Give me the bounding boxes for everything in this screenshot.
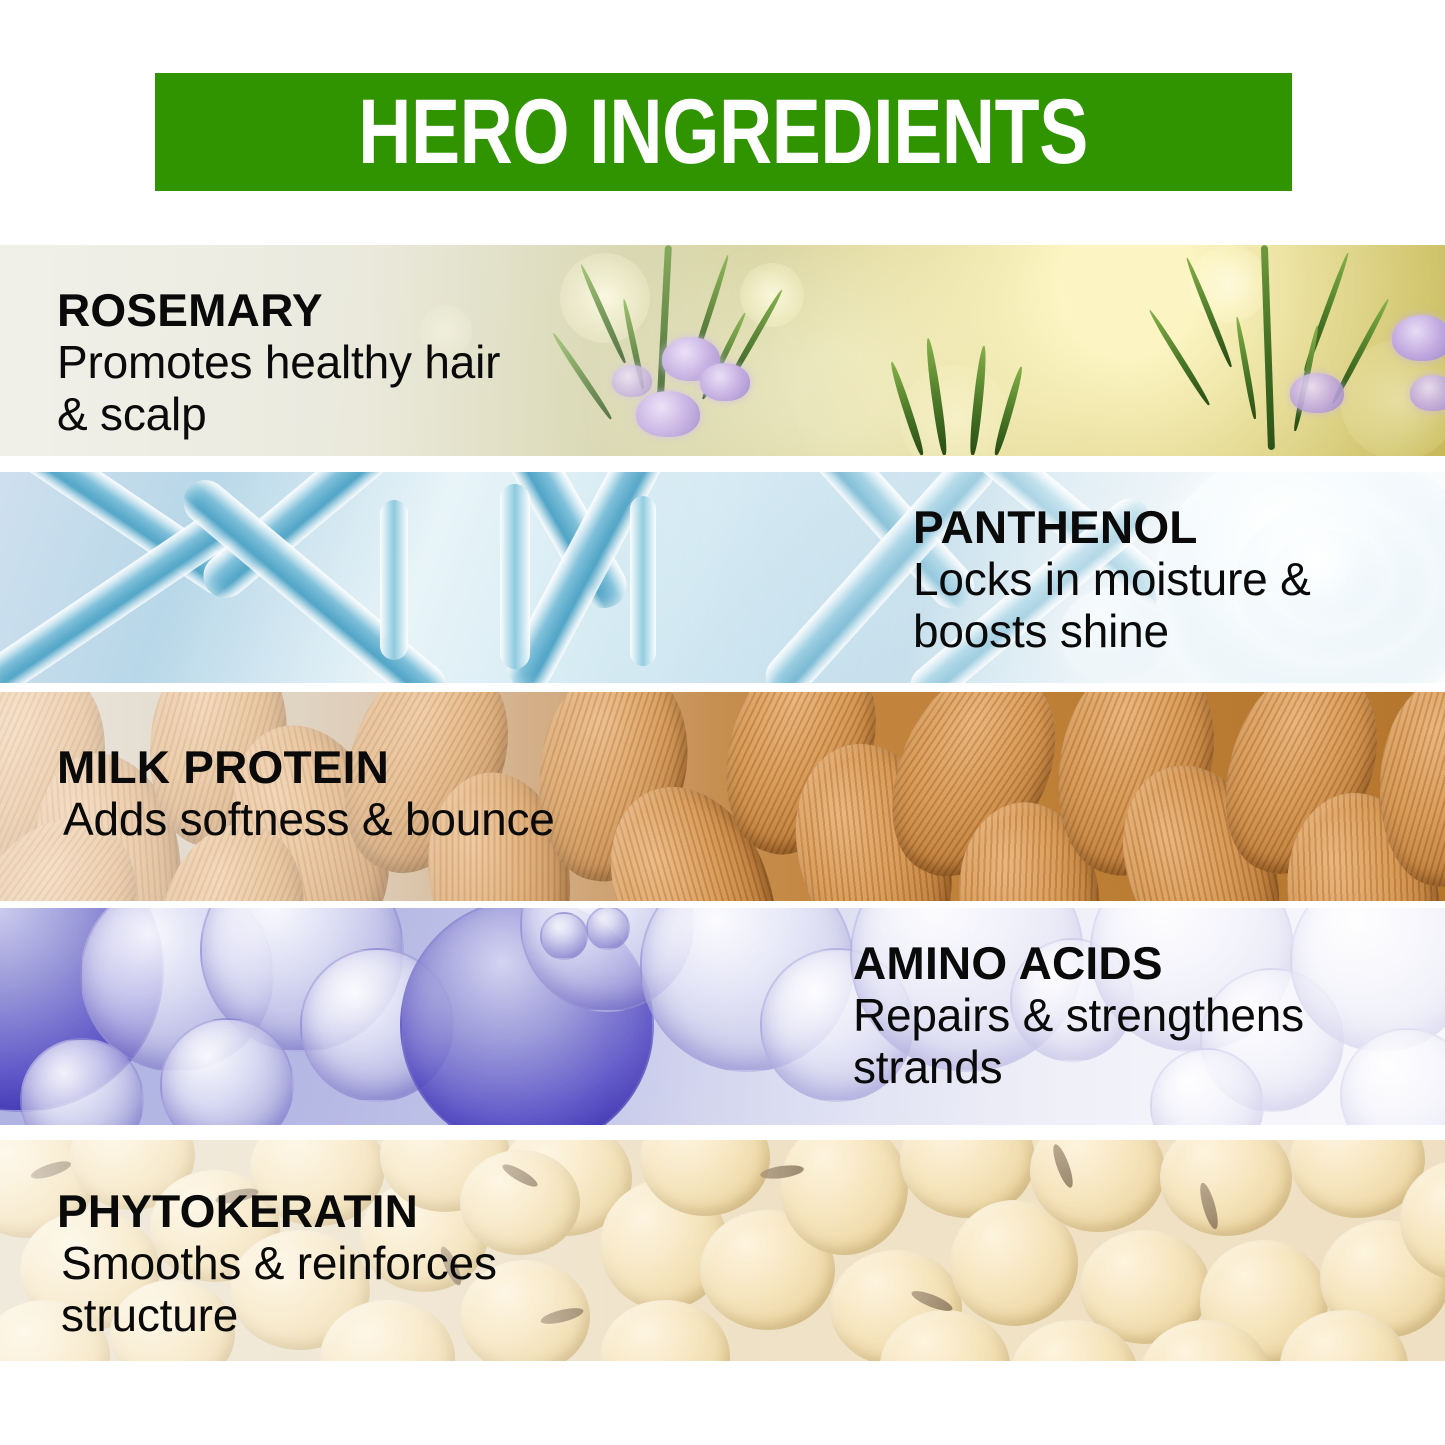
ingredient-name-amino-acids: AMINO ACIDS bbox=[853, 940, 1304, 986]
ingredient-benefit-milk-protein-line1: Adds softness & bounce bbox=[63, 794, 555, 846]
phytokeratin-text-block: PHYTOKERATIN Smooths & reinforces struct… bbox=[57, 1188, 497, 1341]
ingredient-benefit-phytokeratin-line1: Smooths & reinforces bbox=[61, 1238, 497, 1290]
rosemary-text-block: ROSEMARY Promotes healthy hair & scalp bbox=[57, 287, 500, 440]
ingredient-band-panthenol: PANTHENOL Locks in moisture & boosts shi… bbox=[0, 472, 1445, 683]
ingredient-name-panthenol: PANTHENOL bbox=[913, 504, 1311, 550]
milk-protein-text-block: MILK PROTEIN Adds softness & bounce bbox=[57, 744, 555, 846]
ingredient-benefit-panthenol-line1: Locks in moisture & bbox=[913, 554, 1311, 606]
ingredient-name-phytokeratin: PHYTOKERATIN bbox=[57, 1188, 497, 1234]
ingredient-benefit-amino-acids-line1: Repairs & strengthens bbox=[853, 990, 1304, 1042]
ingredient-band-rosemary: ROSEMARY Promotes healthy hair & scalp bbox=[0, 245, 1445, 456]
ingredient-benefit-panthenol-line2: boosts shine bbox=[913, 606, 1311, 658]
page-title: HERO INGREDIENTS bbox=[359, 86, 1089, 178]
ingredient-band-milk-protein: MILK PROTEIN Adds softness & bounce bbox=[0, 692, 1445, 901]
ingredient-benefit-rosemary-line1: Promotes healthy hair bbox=[57, 337, 500, 389]
ingredient-benefit-amino-acids-line2: strands bbox=[853, 1042, 1304, 1094]
ingredient-benefit-phytokeratin-line2: structure bbox=[61, 1290, 497, 1342]
ingredient-name-rosemary: ROSEMARY bbox=[57, 287, 500, 333]
hero-ingredients-banner: HERO INGREDIENTS bbox=[155, 73, 1292, 191]
panthenol-text-block: PANTHENOL Locks in moisture & boosts shi… bbox=[913, 504, 1311, 657]
ingredient-name-milk-protein: MILK PROTEIN bbox=[57, 744, 555, 790]
ingredient-band-amino-acids: AMINO ACIDS Repairs & strengthens strand… bbox=[0, 908, 1445, 1125]
ingredient-benefit-rosemary-line2: & scalp bbox=[57, 389, 500, 441]
amino-acids-text-block: AMINO ACIDS Repairs & strengthens strand… bbox=[853, 940, 1304, 1093]
ingredient-band-phytokeratin: PHYTOKERATIN Smooths & reinforces struct… bbox=[0, 1140, 1445, 1361]
